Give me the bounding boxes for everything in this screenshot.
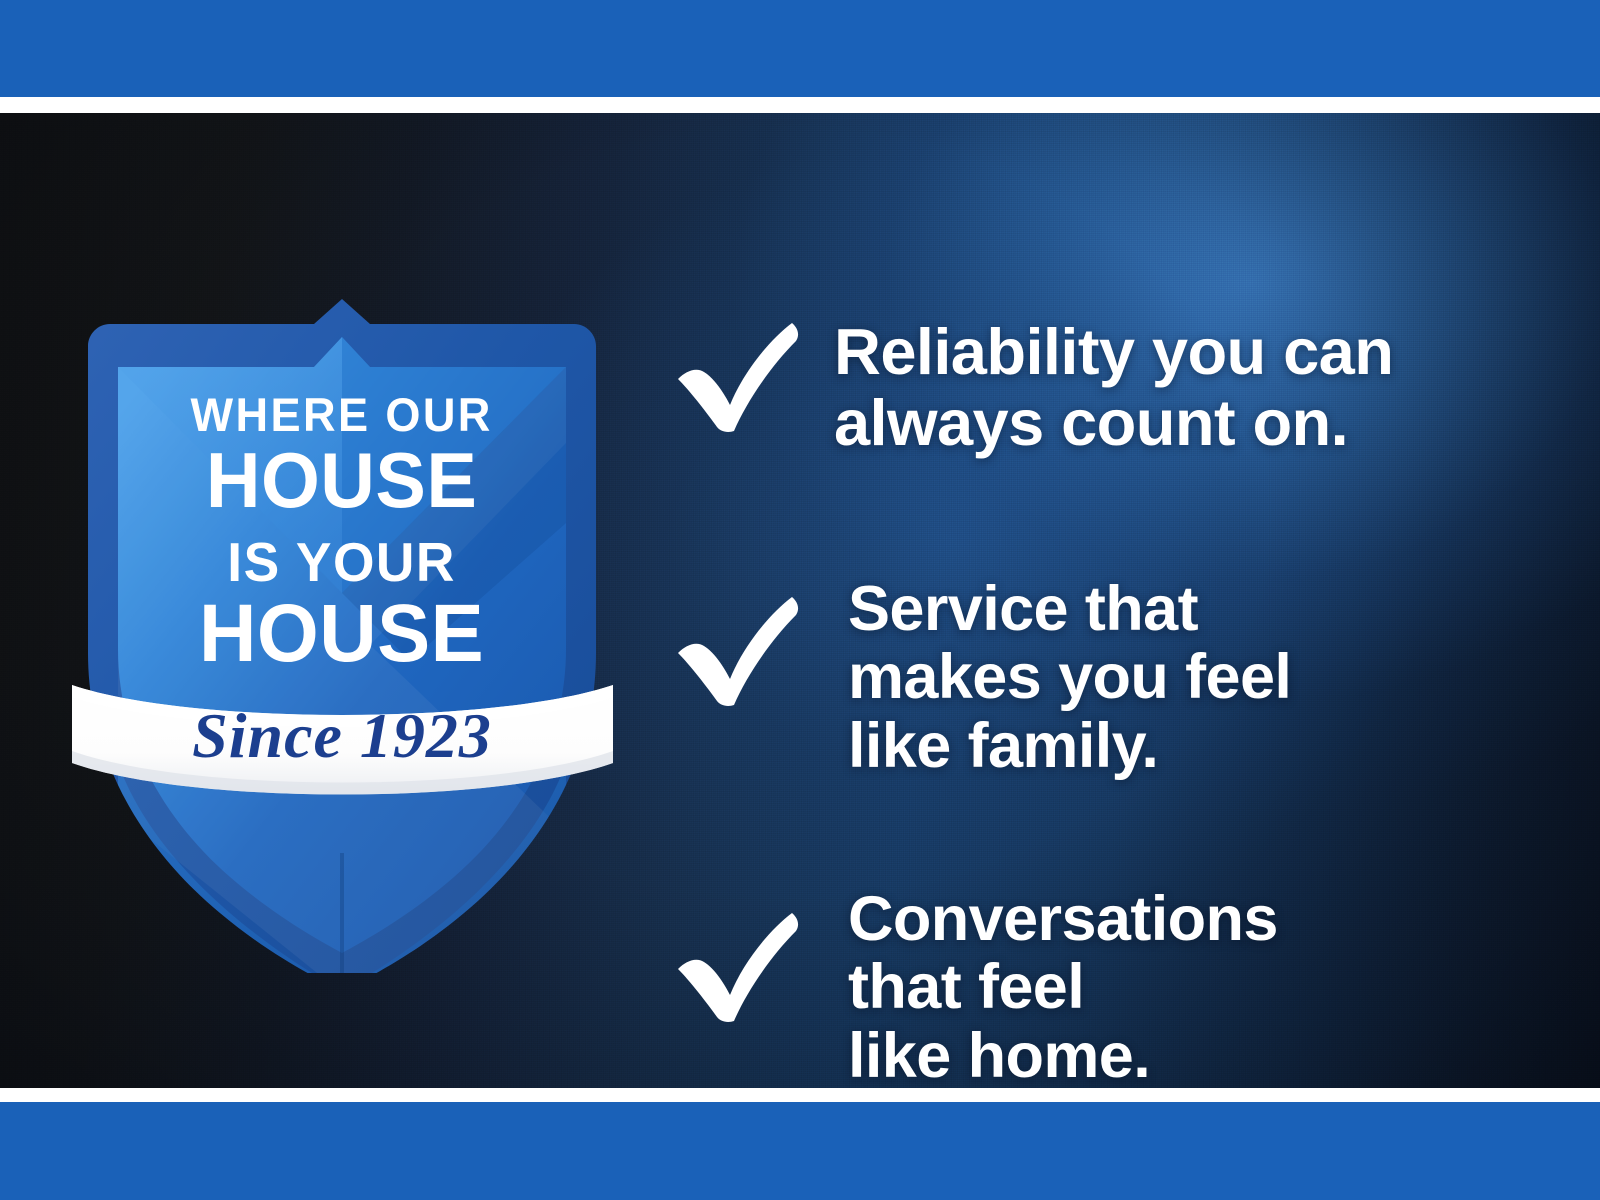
logo-line-4: HOUSE xyxy=(199,588,484,679)
benefit-item: Conversations that feel like home. xyxy=(672,885,1278,1088)
checkmark-icon xyxy=(672,591,804,709)
shield-icon: WHERE OUR HOUSE IS YOUR HOUSE Since 1923 xyxy=(70,293,615,973)
bottom-brand-bar xyxy=(0,1102,1600,1200)
logo-line-1: WHERE OUR xyxy=(191,388,493,441)
poster-stage: WHERE OUR HOUSE IS YOUR HOUSE Since 1923 xyxy=(0,113,1600,1088)
top-brand-bar xyxy=(0,0,1600,97)
company-logo: WHERE OUR HOUSE IS YOUR HOUSE Since 1923 xyxy=(70,293,615,973)
ribbon-since-text: Since 1923 xyxy=(192,700,492,771)
benefit-item: Service that makes you feel like family. xyxy=(672,575,1291,780)
benefit-item: Reliability you can always count on. xyxy=(672,317,1393,458)
promo-poster: WHERE OUR HOUSE IS YOUR HOUSE Since 1923 xyxy=(0,0,1600,1200)
logo-line-2: HOUSE xyxy=(206,437,477,524)
checkmark-icon xyxy=(672,317,804,435)
logo-line-3: IS YOUR xyxy=(227,532,456,593)
checkmark-icon xyxy=(672,907,804,1025)
shield-tip-crease xyxy=(340,853,344,973)
